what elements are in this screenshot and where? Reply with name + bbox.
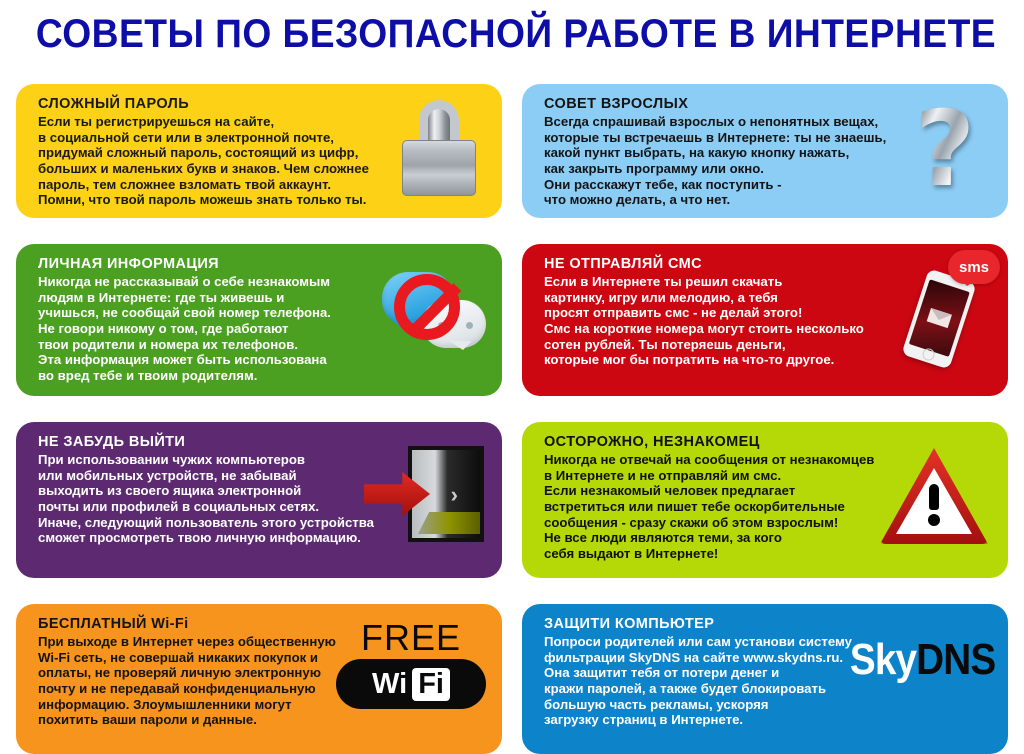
card-text: Никогда не рассказывай о себе незнакомым… — [38, 274, 368, 383]
page-title: СОВЕТЫ ПО БЕЗОПАСНОЙ РАБОТЕ В ИНТЕРНЕТЕ — [36, 14, 988, 54]
skydns-sky-label: Sky — [850, 635, 916, 684]
padlock-icon — [402, 100, 476, 196]
card-text: Всегда спрашивай взрослых о непонятных в… — [544, 114, 934, 208]
card-title: СЛОЖНЫЙ ПАРОЛЬ — [38, 95, 388, 113]
card-title: БЕСПЛАТНЫЙ Wi-Fi — [38, 615, 368, 633]
skydns-dns-label: DNS — [917, 635, 996, 684]
card-title: ЛИЧНАЯ ИНФОРМАЦИЯ — [38, 255, 368, 273]
tip-card-beware-stranger: ОСТОРОЖНО, НЕЗНАКОМЕЦ Никогда не отвечай… — [522, 422, 1008, 578]
wi-label: Wi — [372, 668, 407, 701]
card-text: При использовании чужих компьютеров или … — [38, 452, 393, 546]
no-chat-icon — [380, 268, 488, 360]
tip-card-do-not-send-sms: НЕ ОТПРАВЛЯЙ СМС Если в Интернете ты реш… — [522, 244, 1008, 396]
card-text: Никогда не отвечай на сообщения от незна… — [544, 452, 924, 561]
card-title: НЕ ЗАБУДЬ ВЫЙТИ — [38, 433, 393, 451]
tip-card-free-wifi: БЕСПЛАТНЫЙ Wi-Fi При выходе в Интернет ч… — [16, 604, 502, 754]
warning-triangle-icon — [880, 448, 988, 544]
tip-card-protect-computer: ЗАЩИТИ КОМПЬЮТЕР Попроси родителей или с… — [522, 604, 1008, 754]
card-title: ОСТОРОЖНО, НЕЗНАКОМЕЦ — [544, 433, 924, 451]
poster-root: СОВЕТЫ ПО БЕЗОПАСНОЙ РАБОТЕ В ИНТЕРНЕТЕ … — [0, 0, 1024, 724]
free-label: FREE — [336, 620, 486, 656]
tip-card-personal-information: ЛИЧНАЯ ИНФОРМАЦИЯ Никогда не рассказывай… — [16, 244, 502, 396]
tips-grid: СЛОЖНЫЙ ПАРОЛЬ Если ты регистрируешься н… — [16, 84, 1008, 712]
fi-label: Fi — [412, 668, 450, 701]
question-mark-icon: ? — [900, 90, 990, 210]
card-text: Если ты регистрируешься на сайте, в соци… — [38, 114, 388, 208]
card-text: При выходе в Интернет через общественную… — [38, 634, 368, 728]
tip-card-do-not-forget-logout: НЕ ЗАБУДЬ ВЫЙТИ При использовании чужих … — [16, 422, 502, 578]
free-wifi-logo: FREE Wi Fi — [336, 620, 486, 712]
skydns-logo: SkyDNS — [848, 630, 998, 690]
exit-door-icon: › — [364, 446, 484, 542]
tip-card-strong-password: СЛОЖНЫЙ ПАРОЛЬ Если ты регистрируешься н… — [16, 84, 502, 218]
card-title: ЗАЩИТИ КОМПЬЮТЕР — [544, 615, 894, 633]
tip-card-adult-advice: СОВЕТ ВЗРОСЛЫХ Всегда спрашивай взрослых… — [522, 84, 1008, 218]
card-title: НЕ ОТПРАВЛЯЙ СМС — [544, 255, 924, 273]
phone-sms-icon: sms — [902, 250, 998, 358]
sms-badge-label: sms — [948, 250, 1000, 284]
card-title: СОВЕТ ВЗРОСЛЫХ — [544, 95, 934, 113]
card-text: Если в Интернете ты решил скачать картин… — [544, 274, 924, 368]
card-text: Попроси родителей или сам установи систе… — [544, 634, 894, 728]
